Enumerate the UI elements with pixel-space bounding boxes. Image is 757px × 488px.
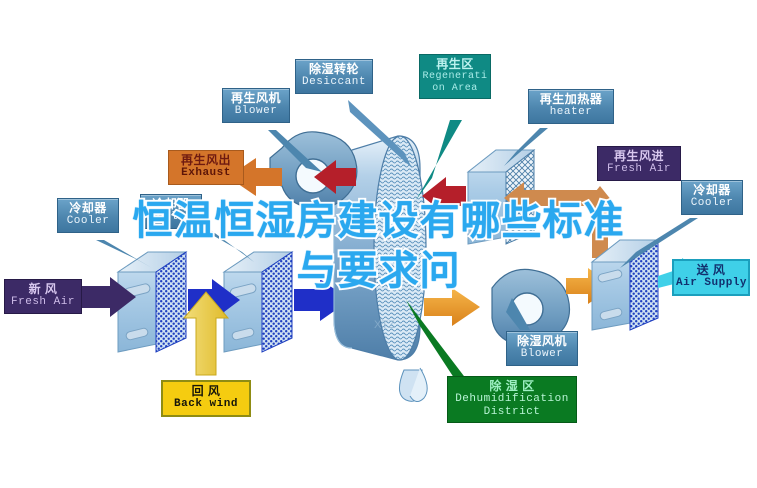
label-heater-en: heater xyxy=(531,106,611,118)
label-regen-fresh-en: Fresh Air xyxy=(600,163,678,175)
label-fresh-air-cn: 新 风 xyxy=(7,283,79,296)
label-dehumidification-district[interactable]: 除 湿 区 Dehumidification District xyxy=(447,376,577,423)
label-regeneration-heater[interactable]: 再生加热器 heater xyxy=(528,89,614,124)
regen-wheel-arrow xyxy=(422,177,466,215)
label-air-supply-en: Air Supply xyxy=(676,277,746,289)
label-regen-area-en2: on Area xyxy=(422,83,488,94)
label-fresh-air-inlet[interactable]: 新 风 Fresh Air xyxy=(4,279,82,314)
label-regeneration-fresh-air[interactable]: 再生风进 Fresh Air xyxy=(597,146,681,181)
label-regen-fresh-cn: 再生风进 xyxy=(600,150,678,163)
label-exhaust-en: Exhaust xyxy=(171,167,241,179)
label-dehum-blower-en: Blower xyxy=(509,348,575,360)
label-air-supply[interactable]: 送 风 Air Supply xyxy=(672,259,750,296)
diagram-artwork: XTZ xyxy=(0,0,757,488)
label-desiccant-wheel[interactable]: 除湿转轮 Desiccant xyxy=(295,59,373,94)
label-back-wind[interactable]: 回 风 Back wind xyxy=(161,380,251,417)
label-cooler-mid-en: Cooler xyxy=(143,211,199,223)
label-air-supply-cn: 送 风 xyxy=(676,264,746,277)
label-heater-cn: 再生加热器 xyxy=(531,93,611,106)
label-desiccant-en: Desiccant xyxy=(298,76,370,88)
condensate-tray xyxy=(399,368,427,402)
wheel-out-arrow xyxy=(424,288,480,326)
label-cooler-left[interactable]: 冷却器 Cooler xyxy=(57,198,119,233)
rotor-watermark: XTZ xyxy=(374,319,395,331)
label-dehumidification-blower[interactable]: 除湿风机 Blower xyxy=(506,331,578,366)
label-exhaust-cn: 再生风出 xyxy=(171,154,241,167)
label-cooler-right-cn: 冷却器 xyxy=(684,184,740,197)
label-dehum-district-en2: District xyxy=(450,406,574,418)
label-cooler-right-en: Cooler xyxy=(684,197,740,209)
label-desiccant-cn: 除湿转轮 xyxy=(298,63,370,76)
label-regen-blower-cn: 再生风机 xyxy=(225,92,287,105)
label-cooler-mid-cn: 冷却器 xyxy=(143,198,199,211)
label-dehum-district-en1: Dehumidification xyxy=(450,393,574,405)
label-regeneration-exhaust[interactable]: 再生风出 Exhaust xyxy=(168,150,244,185)
label-cooler-left-cn: 冷却器 xyxy=(60,202,116,215)
label-cooler-left-en: Cooler xyxy=(60,215,116,227)
label-regen-blower-en: Blower xyxy=(225,105,287,117)
label-cooler-mid[interactable]: 冷却器 Cooler xyxy=(140,194,202,229)
label-regeneration-blower[interactable]: 再生风机 Blower xyxy=(222,88,290,123)
regen-heater-inlet-arrow xyxy=(504,182,600,214)
label-dehum-blower-cn: 除湿风机 xyxy=(509,335,575,348)
label-back-wind-en: Back wind xyxy=(165,398,247,410)
label-cooler-right[interactable]: 冷却器 Cooler xyxy=(681,180,743,215)
label-regen-area-en1: Regenerati xyxy=(422,71,488,82)
label-regen-area-cn: 再生区 xyxy=(422,58,488,71)
label-back-wind-cn: 回 风 xyxy=(165,385,247,398)
label-regeneration-area[interactable]: 再生区 Regenerati on Area xyxy=(419,54,491,99)
dehumidifier-process-diagram: XTZ xyxy=(0,0,757,488)
label-fresh-air-en: Fresh Air xyxy=(7,296,79,308)
label-dehum-district-cn: 除 湿 区 xyxy=(450,380,574,393)
